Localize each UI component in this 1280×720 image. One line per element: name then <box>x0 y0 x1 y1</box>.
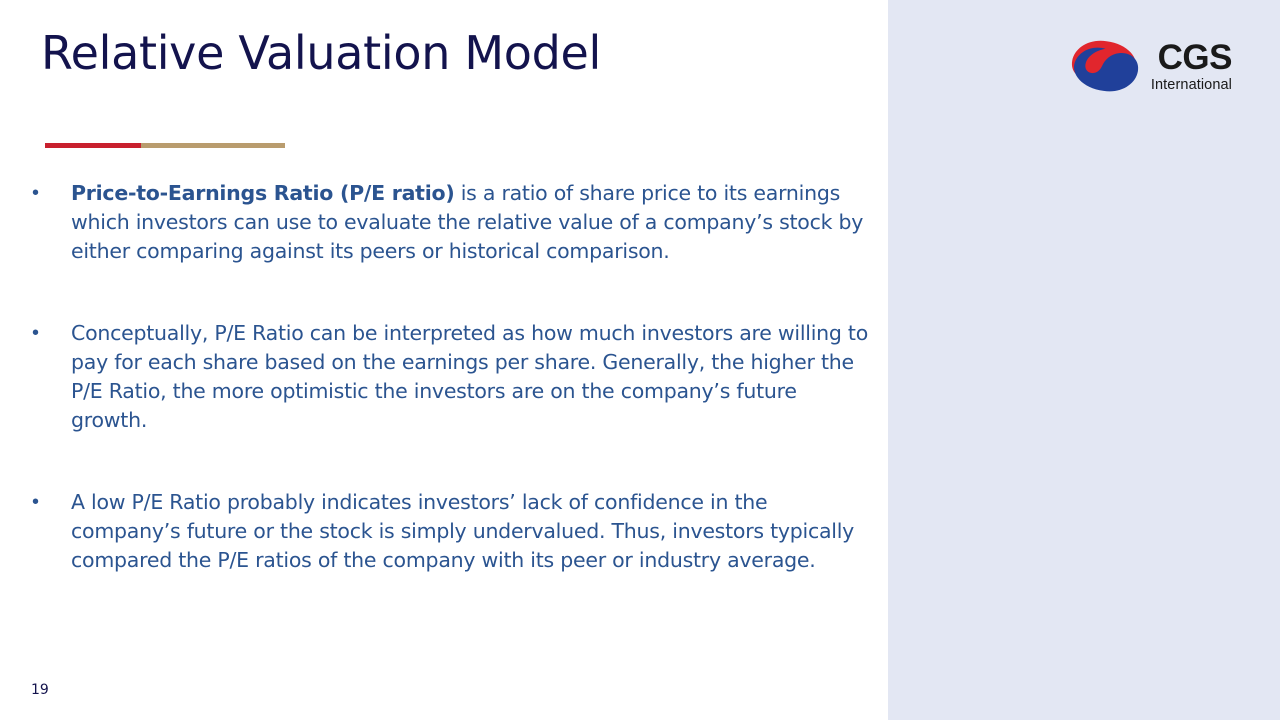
bullet-marker-icon: • <box>28 319 71 348</box>
bullet-marker-icon: • <box>28 179 71 208</box>
bullet-text: A low P/E Ratio probably indicates inves… <box>71 488 873 575</box>
bullet-text: Conceptually, P/E Ratio can be interpret… <box>71 319 873 435</box>
bullet-bold-lead: Price-to-Earnings Ratio (P/E ratio) <box>71 181 454 205</box>
logo-wordmark-group: CGS International <box>1151 40 1232 93</box>
title-underline-rule <box>45 143 285 148</box>
bullet-text: Price-to-Earnings Ratio (P/E ratio) is a… <box>71 179 873 266</box>
cgs-swirl-icon <box>1068 38 1142 94</box>
page-title: Relative Valuation Model <box>41 28 661 78</box>
logo-subtitle: International <box>1151 78 1232 93</box>
list-item: • Price-to-Earnings Ratio (P/E ratio) is… <box>28 179 873 266</box>
title-rule-red-segment <box>45 143 141 148</box>
bullet-list: • Price-to-Earnings Ratio (P/E ratio) is… <box>28 179 873 575</box>
page-number: 19 <box>31 682 49 698</box>
slide: CGS International Relative Valuation Mod… <box>0 0 1280 720</box>
bullet-marker-icon: • <box>28 488 71 517</box>
cgs-international-logo: CGS International <box>1068 38 1232 94</box>
bullet-body: Conceptually, P/E Ratio can be interpret… <box>71 321 868 432</box>
title-rule-gold-segment <box>141 143 285 148</box>
logo-wordmark: CGS <box>1158 40 1232 75</box>
list-item: • A low P/E Ratio probably indicates inv… <box>28 488 873 575</box>
right-decorative-panel <box>888 0 1280 720</box>
list-item: • Conceptually, P/E Ratio can be interpr… <box>28 319 873 435</box>
bullet-body: A low P/E Ratio probably indicates inves… <box>71 490 854 572</box>
